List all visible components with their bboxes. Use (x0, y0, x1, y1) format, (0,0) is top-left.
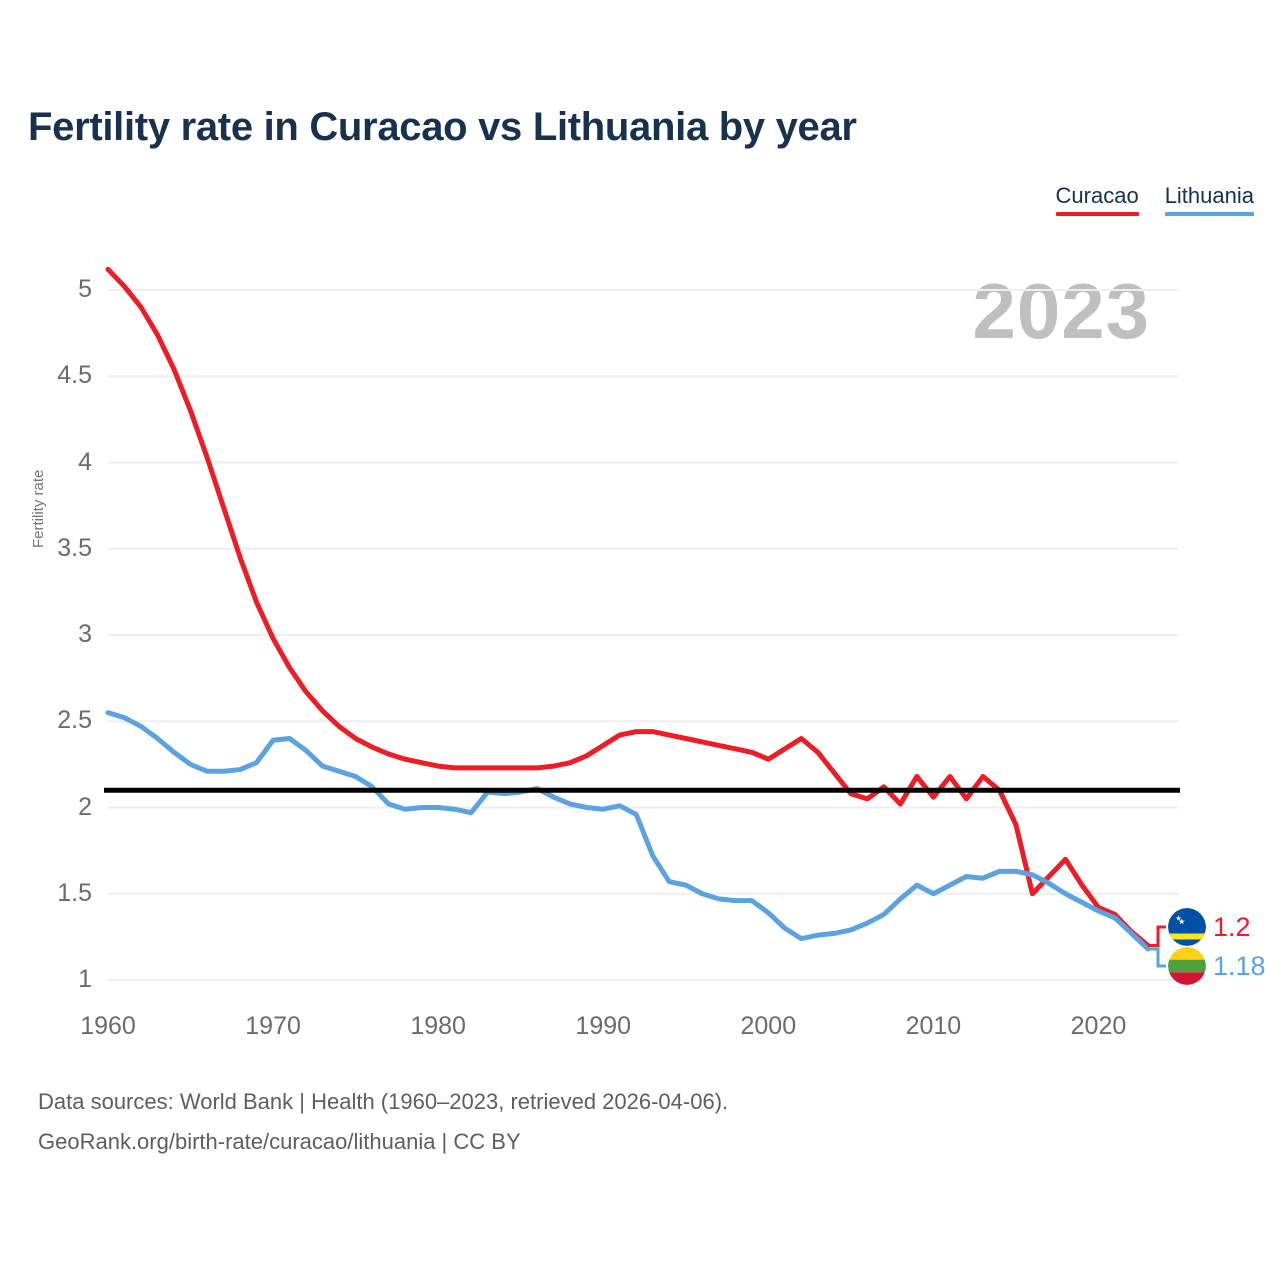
endpoint-leader-lines (1148, 927, 1166, 966)
x-tick-label: 1980 (393, 1014, 483, 1039)
y-tick-label: 2 (30, 795, 92, 820)
gridlines (108, 290, 1178, 980)
footer-line-sources: Data sources: World Bank | Health (1960–… (38, 1082, 728, 1122)
x-tick-label: 1990 (558, 1014, 648, 1039)
y-tick-label: 2.5 (30, 708, 92, 733)
curacao-endpoint-value: 1.2 (1213, 914, 1251, 941)
series-line-curacao (108, 269, 1148, 945)
x-tick-label: 2020 (1053, 1014, 1143, 1039)
x-tick-label: 2000 (723, 1014, 813, 1039)
footer-line-attribution: GeoRank.org/birth-rate/curacao/lithuania… (38, 1122, 728, 1162)
lithuania-endpoint: 1.18 (1168, 947, 1266, 985)
y-tick-label: 3.5 (30, 536, 92, 561)
y-tick-label: 1.5 (30, 881, 92, 906)
curacao-flag-icon (1168, 908, 1206, 946)
footer-notes: Data sources: World Bank | Health (1960–… (38, 1082, 728, 1162)
curacao-endpoint: 1.2 (1168, 908, 1251, 946)
x-tick-label: 1960 (63, 1014, 153, 1039)
y-tick-label: 3 (30, 622, 92, 647)
chart-page: Fertility rate in Curacao vs Lithuania b… (0, 0, 1280, 1280)
series-line-lithuania (108, 713, 1148, 949)
y-tick-label: 1 (30, 967, 92, 992)
x-tick-label: 1970 (228, 1014, 318, 1039)
y-tick-label: 4 (30, 450, 92, 475)
y-tick-label: 4.5 (30, 363, 92, 388)
y-tick-label: 5 (30, 277, 92, 302)
lithuania-endpoint-value: 1.18 (1213, 953, 1266, 980)
lithuania-flag-icon (1168, 947, 1206, 985)
x-tick-label: 2010 (888, 1014, 978, 1039)
